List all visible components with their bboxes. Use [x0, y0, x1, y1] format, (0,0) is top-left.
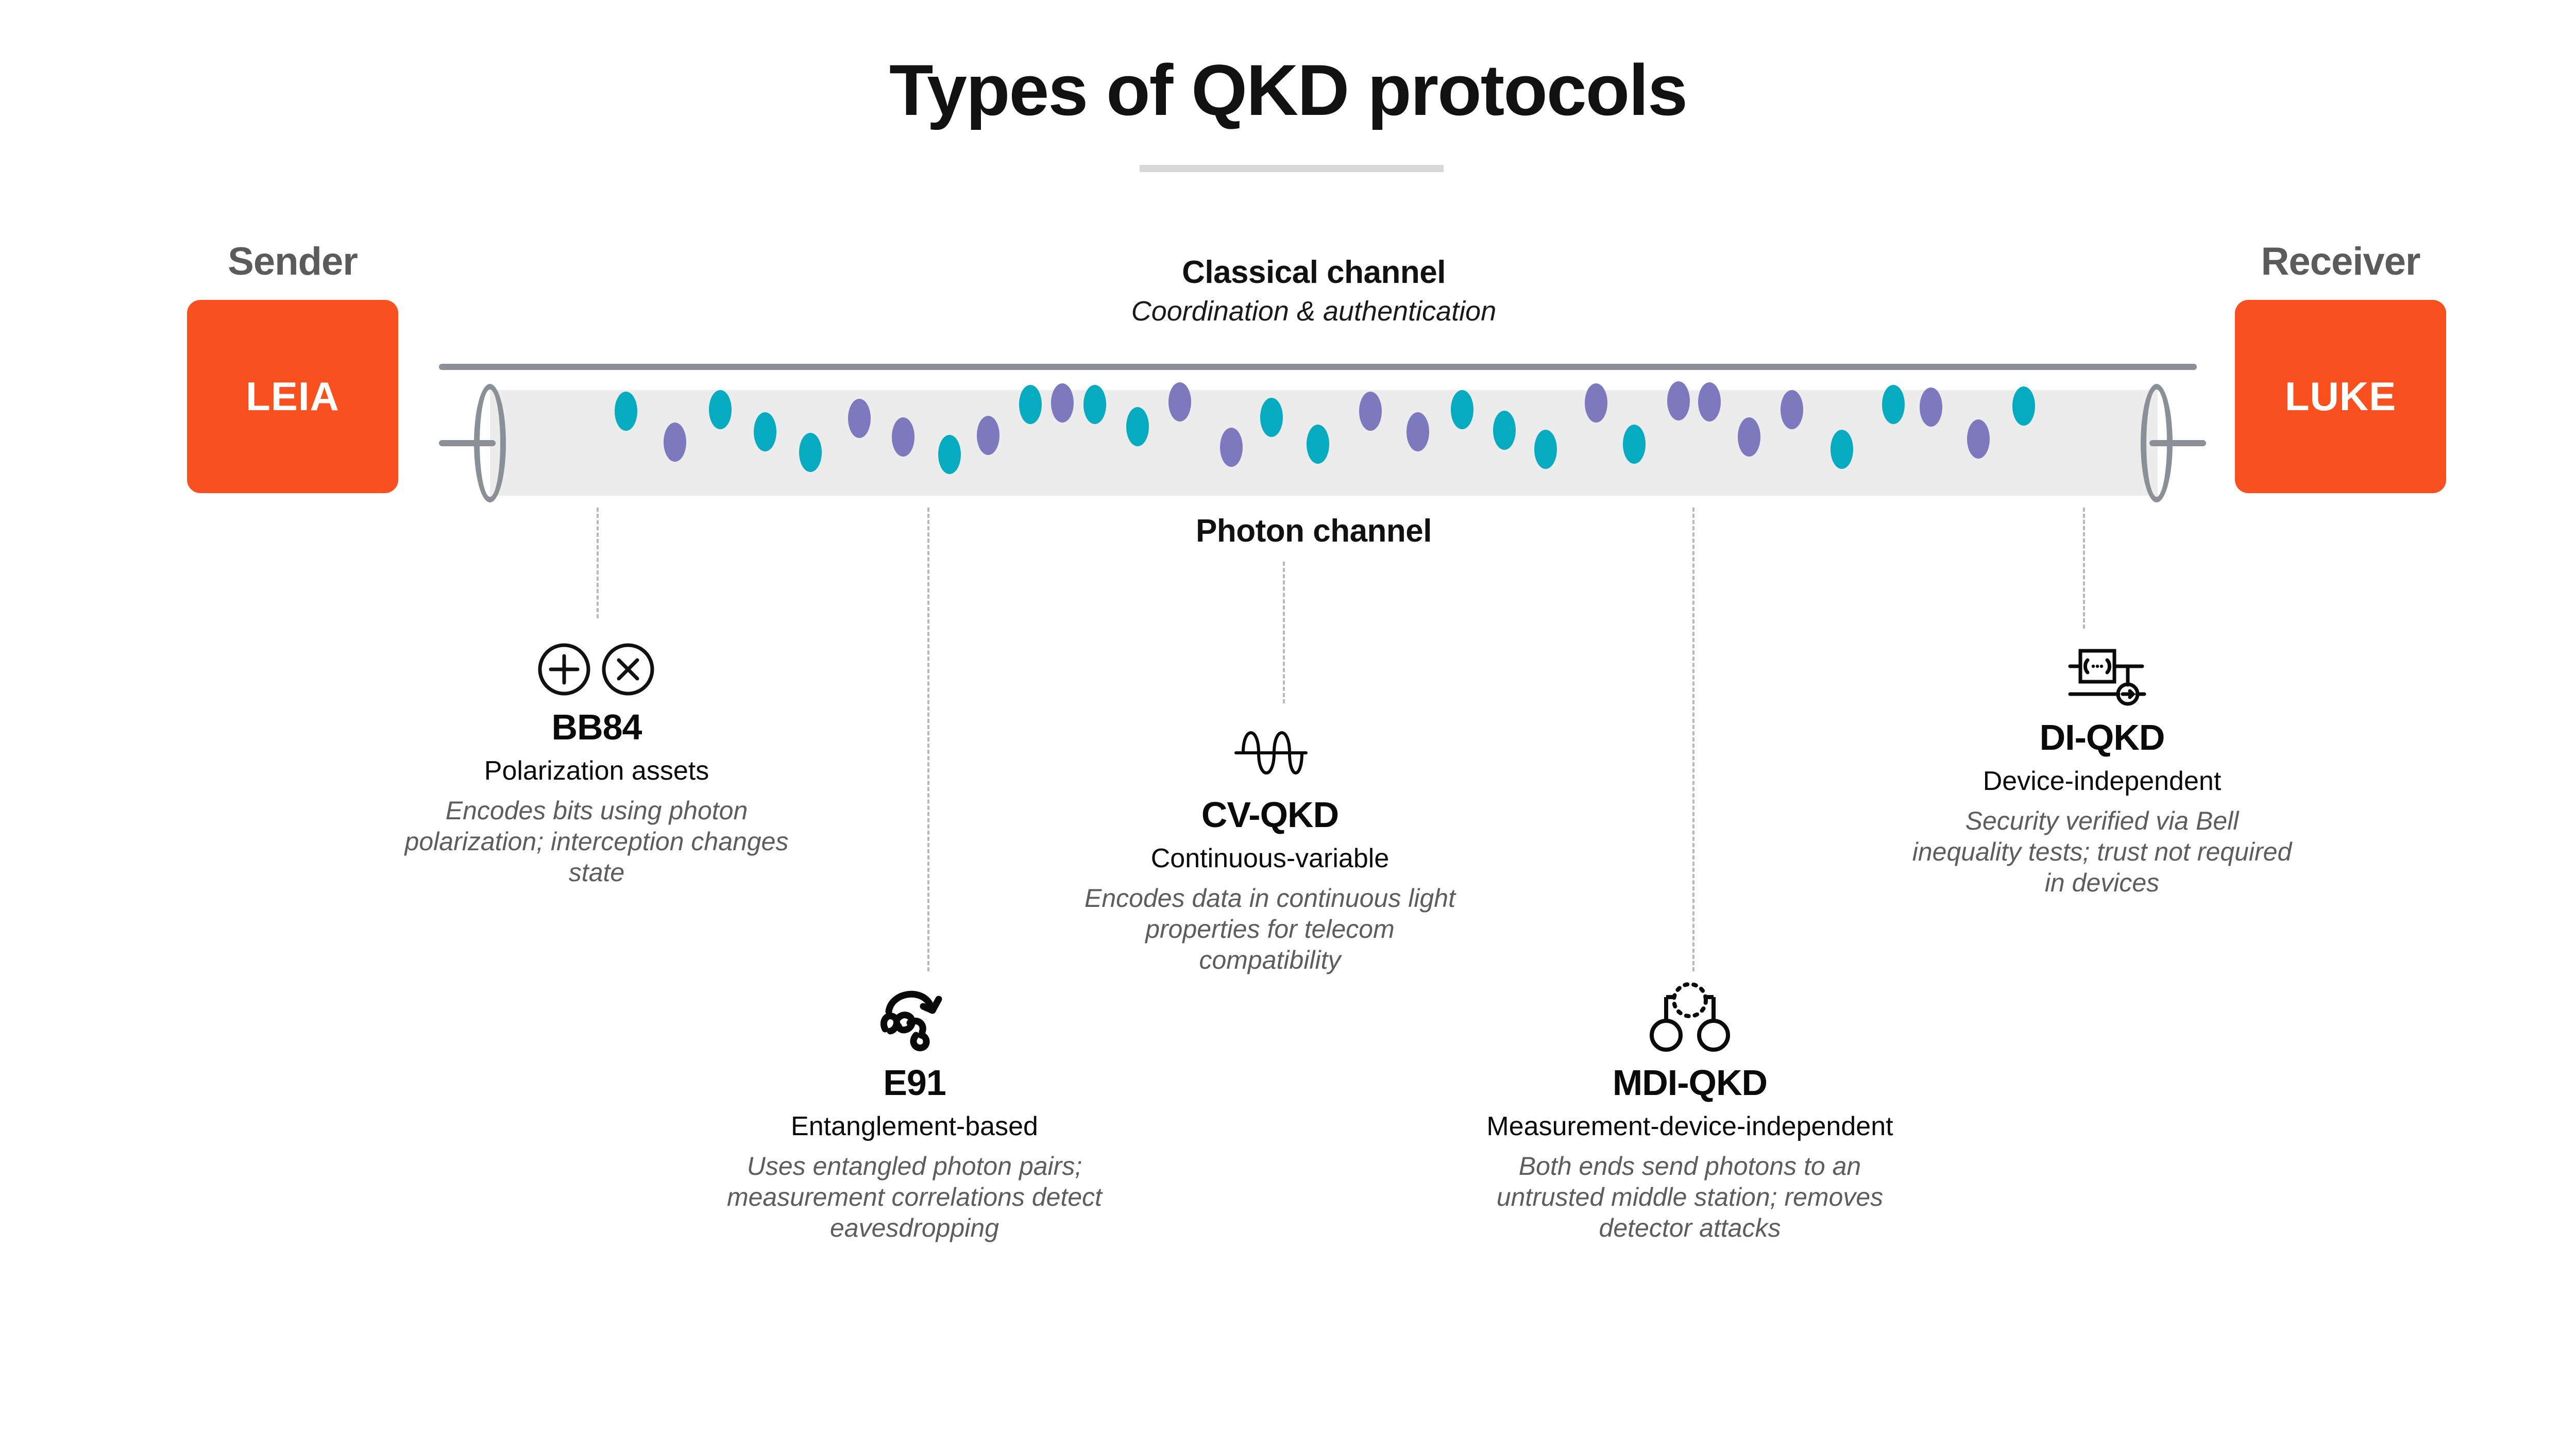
photon-dot: [1623, 425, 1646, 464]
photon-dot: [1493, 411, 1516, 450]
connector-e91: [927, 508, 929, 971]
protocol-description: Security verified via Bell inequality te…: [1911, 805, 2293, 898]
receiver-label: Receiver: [2235, 242, 2446, 281]
photon-dot: [1406, 412, 1429, 451]
photon-dot: [1882, 385, 1905, 424]
classical-channel-label: Classical channel Coordination & authent…: [824, 255, 1803, 327]
photon-dot: [1451, 390, 1473, 429]
receiver-card-luke[interactable]: LUKE: [2235, 300, 2446, 493]
photon-dot: [1967, 419, 1990, 459]
classical-channel-line: [439, 364, 2197, 370]
photon-dot: [892, 417, 914, 457]
protocol-description: Encodes data in continuous light propert…: [1084, 883, 1455, 975]
photon-dot: [1083, 385, 1106, 424]
photon-dot: [848, 399, 871, 438]
photon-dot: [709, 390, 732, 429]
protocol-name: E91: [724, 1063, 1105, 1103]
photon-dot: [1585, 383, 1607, 423]
protocol-subtitle: Continuous-variable: [1084, 843, 1455, 874]
photon-dot: [1534, 430, 1557, 469]
protocol-name: CV-QKD: [1084, 795, 1455, 835]
blackbox-circuit-icon: [1911, 631, 2293, 709]
photon-dot: [664, 423, 686, 462]
protocol-description: Uses entangled photon pairs; measurement…: [724, 1151, 1105, 1243]
sine-wave-icon: [1084, 709, 1455, 786]
receiver-endpoint: Receiver LUKE: [2235, 242, 2446, 493]
photon-dot: [1019, 385, 1042, 424]
connector-bb84: [597, 508, 599, 618]
title-underline-rule: [1140, 165, 1444, 172]
connector-diqkd: [2083, 508, 2085, 629]
protocol-subtitle: Polarization assets: [391, 755, 803, 787]
photon-dot: [1667, 381, 1690, 420]
photon-dot: [754, 412, 776, 451]
connector-cvqkd: [1283, 562, 1285, 703]
photon-dot: [1126, 407, 1149, 446]
photon-dot: [1307, 425, 1329, 464]
photon-dot: [2012, 386, 2035, 426]
photon-dot: [799, 433, 822, 472]
protocol-card-mdiqkd[interactable]: MDI-QKD Measurement-device-independent B…: [1468, 976, 1911, 1243]
photon-dot: [1051, 383, 1074, 423]
photon-dot: [1781, 390, 1803, 429]
protocol-card-bb84[interactable]: BB84 Polarization assets Encodes bits us…: [391, 621, 803, 888]
photon-dot: [615, 392, 637, 431]
connector-mdiqkd: [1692, 508, 1694, 971]
sender-endpoint: Sender LEIA: [187, 242, 398, 493]
photon-dot: [1920, 387, 1942, 427]
photon-dot: [1359, 392, 1382, 431]
photon-dot: [1831, 430, 1853, 469]
protocol-description: Encodes bits using photon polarization; …: [391, 795, 803, 888]
protocol-name: BB84: [391, 707, 803, 747]
protocol-card-cvqkd[interactable]: CV-QKD Continuous-variable Encodes data …: [1084, 709, 1455, 975]
photon-dot: [977, 416, 999, 455]
classical-channel-subtitle: Coordination & authentication: [824, 295, 1803, 327]
untrusted-node-detectors-icon: [1468, 976, 1911, 1054]
protocol-subtitle: Measurement-device-independent: [1468, 1111, 1911, 1142]
photon-dot: [1220, 428, 1243, 467]
page-title: Types of QKD protocols: [0, 54, 2576, 126]
photon-dot: [938, 435, 961, 474]
photon-dot: [1738, 417, 1760, 457]
photon-dot: [1168, 382, 1191, 422]
fiber-aperture-left-icon: [474, 384, 506, 502]
fiber-aperture-right-icon: [2141, 384, 2173, 502]
protocol-card-e91[interactable]: E91 Entanglement-based Uses entangled ph…: [724, 976, 1105, 1243]
photon-dot: [1698, 382, 1721, 422]
protocol-name: DI-QKD: [1911, 718, 2293, 757]
protocol-subtitle: Device-independent: [1911, 766, 2293, 797]
sender-label: Sender: [187, 242, 398, 281]
protocol-name: MDI-QKD: [1468, 1063, 1911, 1103]
classical-channel-title: Classical channel: [824, 255, 1803, 290]
plus-cross-basis-icon: [391, 621, 803, 698]
protocol-subtitle: Entanglement-based: [724, 1111, 1105, 1142]
entanglement-knot-icon: [724, 976, 1105, 1054]
sender-card-leia[interactable]: LEIA: [187, 300, 398, 493]
photon-dot: [1260, 398, 1283, 437]
protocol-card-diqkd[interactable]: DI-QKD Device-independent Security verif…: [1911, 631, 2293, 898]
diagram-canvas: Types of QKD protocols Sender LEIA Recei…: [0, 0, 2576, 1449]
photon-channel-label: Photon channel: [876, 513, 1752, 549]
protocol-description: Both ends send photons to an untrusted m…: [1468, 1151, 1911, 1243]
